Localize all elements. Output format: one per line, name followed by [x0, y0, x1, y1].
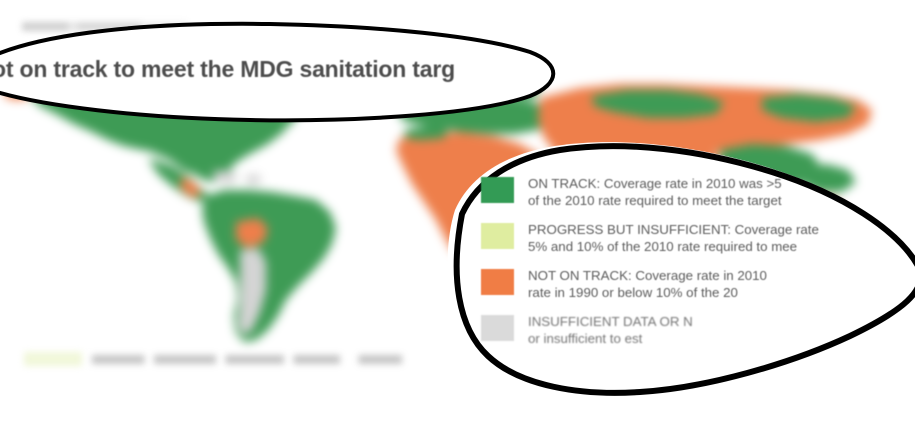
legend-label-line1: ON TRACK: Coverage rate in 2010 was >5	[528, 176, 782, 191]
legend-label-on-track: ON TRACK: Coverage rate in 2010 was >5 o…	[528, 176, 782, 209]
legend-item-progress-insufficient: PROGRESS BUT INSUFFICIENT: Coverage rate…	[481, 222, 915, 255]
legend-label-line1: INSUFFICIENT DATA OR N	[528, 314, 693, 329]
footnote-text	[92, 355, 402, 364]
map-footnote	[24, 352, 402, 366]
document-page: ot on track to meet the MDG sanitation t…	[0, 0, 915, 423]
legend-swatch-progress-insufficient	[481, 223, 514, 249]
legend-label-line2: of the 2010 rate required to meet the ta…	[528, 193, 782, 210]
legend-label-line1: PROGRESS BUT INSUFFICIENT: Coverage rate	[528, 222, 819, 237]
footnote-swatch	[24, 352, 82, 366]
legend-item-insufficient-data: INSUFFICIENT DATA OR N or insufficient t…	[481, 314, 915, 347]
legend-swatch-not-on-track	[481, 269, 514, 295]
legend-swatch-insufficient-data	[481, 315, 514, 341]
legend-label-line2: 5% and 10% of the 2010 rate required to …	[528, 239, 819, 256]
map-legend: ON TRACK: Coverage rate in 2010 was >5 o…	[481, 176, 915, 360]
legend-label-progress-insufficient: PROGRESS BUT INSUFFICIENT: Coverage rate…	[528, 222, 819, 255]
legend-label-not-on-track: NOT ON TRACK: Coverage rate in 2010 rate…	[528, 268, 767, 301]
legend-item-not-on-track: NOT ON TRACK: Coverage rate in 2010 rate…	[481, 268, 915, 301]
ghost-header-text	[22, 22, 187, 31]
legend-swatch-on-track	[481, 177, 514, 203]
page-title: ot on track to meet the MDG sanitation t…	[0, 56, 567, 83]
legend-label-line1: NOT ON TRACK: Coverage rate in 2010	[528, 268, 767, 283]
legend-label-line2: or insufficient to est	[528, 331, 693, 348]
legend-label-line2: rate in 1990 or below 10% of the 20	[528, 285, 767, 302]
legend-label-insufficient-data: INSUFFICIENT DATA OR N or insufficient t…	[528, 314, 693, 347]
legend-item-on-track: ON TRACK: Coverage rate in 2010 was >5 o…	[481, 176, 915, 209]
